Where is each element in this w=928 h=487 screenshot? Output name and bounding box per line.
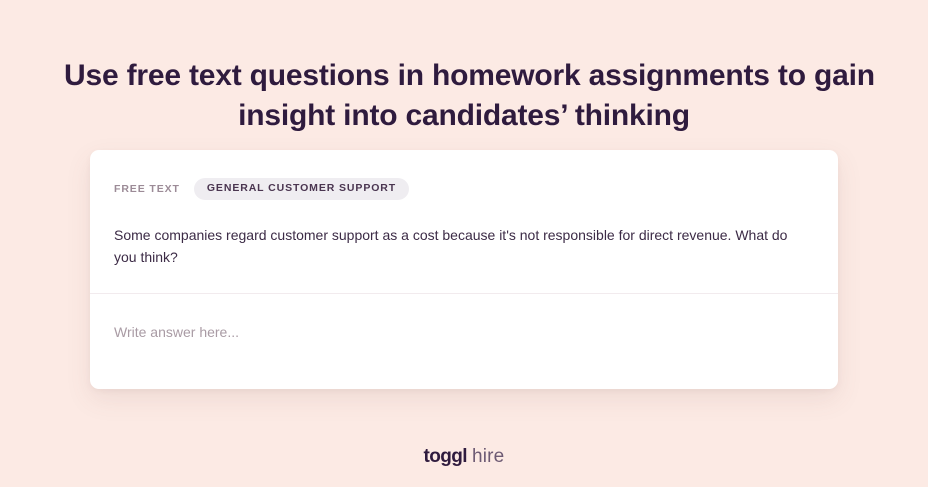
question-tag-row: FREE TEXT GENERAL CUSTOMER SUPPORT bbox=[114, 178, 814, 200]
page-title-line-1: Use free text questions in homework assi… bbox=[64, 56, 864, 96]
question-card: FREE TEXT GENERAL CUSTOMER SUPPORT Some … bbox=[90, 150, 838, 389]
toggl-hire-logo: togglhire bbox=[424, 445, 505, 469]
page-title: Use free text questions in homework assi… bbox=[64, 56, 864, 136]
question-text: Some companies regard customer support a… bbox=[114, 224, 804, 268]
answer-area[interactable] bbox=[90, 294, 838, 389]
page-root: Use free text questions in homework assi… bbox=[0, 0, 928, 487]
footer: togglhire bbox=[0, 445, 928, 469]
question-type-label: FREE TEXT bbox=[114, 183, 188, 195]
answer-input[interactable] bbox=[114, 322, 814, 382]
logo-hire-text: hire bbox=[472, 446, 504, 467]
question-card-header: FREE TEXT GENERAL CUSTOMER SUPPORT Some … bbox=[90, 150, 838, 268]
page-title-line-2: insight into candidates’ thinking bbox=[64, 96, 864, 136]
logo-toggl-text: toggl bbox=[424, 446, 467, 467]
question-category-badge: GENERAL CUSTOMER SUPPORT bbox=[194, 178, 409, 200]
